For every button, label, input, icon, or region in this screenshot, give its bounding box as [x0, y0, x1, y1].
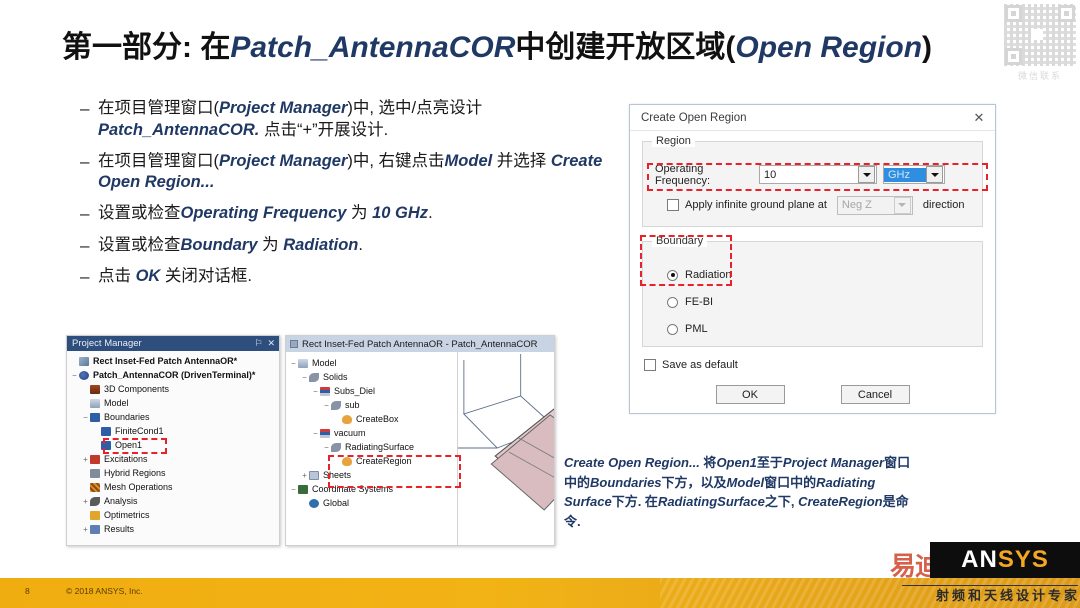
command-icon-wrap [342, 415, 353, 424]
tree-node[interactable]: FiniteCond1 [70, 424, 279, 438]
expand-icon[interactable]: + [300, 471, 309, 480]
bullet-2-seg-0: 设置或检查 [98, 204, 181, 222]
pin-icon[interactable]: ⚐ [254, 338, 262, 349]
coordinate-systems-icon-wrap [298, 485, 309, 494]
caption-seg-4: Project Manager [783, 455, 884, 470]
collapse-icon[interactable]: − [322, 401, 331, 410]
optimetrics-icon [90, 511, 100, 520]
tree-node[interactable]: +Excitations [70, 452, 279, 466]
collapse-icon[interactable]: − [322, 443, 331, 452]
caption-seg-2: Open1 [716, 455, 756, 470]
tree-node[interactable]: −Coordinate Systems [289, 482, 457, 496]
expand-icon[interactable]: + [81, 525, 90, 534]
operating-frequency-label: Operating Frequency: [655, 163, 759, 187]
3d-components-icon-wrap [90, 385, 101, 394]
ok-button[interactable]: OK [716, 385, 785, 404]
analysis-icon-wrap [90, 497, 101, 506]
caption-seg-0: Create Open Region... [564, 455, 703, 470]
tree-node-label: Hybrid Regions [104, 469, 166, 478]
frequency-unit-select[interactable]: GHz [883, 165, 945, 184]
hybrid-regions-icon-wrap [90, 469, 101, 478]
model-3d-viewport[interactable] [458, 352, 554, 546]
solids-icon [331, 401, 341, 410]
tree-node[interactable]: Mesh Operations [70, 480, 279, 494]
boundary-group: Boundary RadiationFE-BIPML [642, 241, 983, 347]
bullet-dash-icon: – [80, 235, 98, 257]
tree-node-label: Coordinate Systems [312, 485, 393, 494]
cancel-button[interactable]: Cancel [841, 385, 910, 404]
tree-node[interactable]: CreateRegion [289, 454, 457, 468]
material-stack-icon-wrap [320, 387, 331, 396]
page-number: 8 [25, 586, 30, 596]
tree-node-label: sub [345, 401, 360, 410]
copyright-text: © 2018 ANSYS, Inc. [66, 586, 143, 596]
dialog-title: Create Open Region [641, 112, 969, 124]
caption-seg-9: 窗口中的 [764, 475, 816, 490]
wechat-qr-watermark: 微信联系 [1004, 4, 1076, 82]
title-middle: 中创建开放区域 [515, 31, 725, 64]
caption-seg-1: 将 [703, 455, 716, 470]
ground-plane-direction-select[interactable]: Neg Z [837, 196, 913, 215]
chevron-down-icon[interactable] [858, 166, 875, 183]
infinite-ground-plane-checkbox[interactable] [667, 199, 679, 211]
title-paren-open: ( [725, 31, 735, 64]
explanatory-caption: Create Open Region... 将Open1至于Project Ma… [564, 453, 914, 531]
tree-node-label: Subs_Diel [334, 387, 375, 396]
qr-code-image [1004, 4, 1076, 66]
tree-node[interactable]: Hybrid Regions [70, 466, 279, 480]
tree-node-label: RadiatingSurface [345, 443, 414, 452]
collapse-icon[interactable]: − [289, 359, 298, 368]
instruction-text: 在项目管理窗口(Project Manager)中, 右键点击Model 并选择… [98, 151, 620, 195]
tree-node-label: Patch_AntennaCOR (DrivenTerminal)* [93, 371, 255, 380]
tree-node-label: Analysis [104, 497, 138, 506]
hybrid-regions-icon [90, 469, 100, 478]
tree-node-label: Sheets [323, 471, 351, 480]
bullet-dash-icon: – [80, 151, 98, 195]
tree-node[interactable]: −sub [289, 398, 457, 412]
bullet-1-seg-4: 并选择 [492, 152, 551, 170]
tree-node-label: CreateBox [356, 415, 399, 424]
instruction-list: –在项目管理窗口(Project Manager)中, 选中/点亮设计 Patc… [80, 98, 620, 297]
instruction-item: –点击 OK 关闭对话框. [80, 266, 620, 288]
caption-seg-7: 下方，以及 [662, 475, 727, 490]
instruction-item: –设置或检查Operating Frequency 为 10 GHz. [80, 203, 620, 225]
boundary-group-legend: Boundary [652, 235, 707, 247]
tree-node-label: Optimetrics [104, 511, 150, 520]
analysis-icon [90, 497, 100, 506]
tree-node[interactable]: Model [70, 396, 279, 410]
qr-caption: 微信联系 [1004, 69, 1076, 82]
boundary-item-icon-wrap [101, 441, 112, 450]
instruction-text: 设置或检查Boundary 为 Radiation. [98, 235, 363, 257]
ansys-logo-text: ANSYS [961, 546, 1049, 574]
model-icon-wrap [298, 359, 309, 368]
collapse-icon[interactable]: − [311, 429, 320, 438]
close-icon[interactable]: ✕ [969, 110, 989, 126]
optimetrics-icon-wrap [90, 511, 101, 520]
window-icon [290, 340, 298, 348]
radio-icon[interactable] [667, 324, 678, 335]
design-icon-wrap [79, 371, 90, 380]
bullet-0-seg-2: )中, 选中/点亮设计 [347, 99, 482, 117]
save-as-default-row[interactable]: Save as default [644, 359, 983, 371]
project-icon [79, 357, 89, 366]
instruction-item: –在项目管理窗口(Project Manager)中, 选中/点亮设计 Patc… [80, 98, 620, 142]
tree-node[interactable]: −RadiatingSurface [289, 440, 457, 454]
qr-eye-top-left [1005, 5, 1022, 22]
bullet-4-seg-2: 关闭对话框. [160, 267, 252, 285]
boundary-option-label: FE-BI [685, 296, 713, 308]
bullet-0-seg-4: 点击“+”开展设计. [259, 121, 388, 139]
title-colon: : [182, 31, 200, 64]
model-window-title: Rect Inset-Fed Patch AntennaOR - Patch_A… [302, 339, 538, 350]
results-icon-wrap [90, 525, 101, 534]
infinite-ground-plane-row: Apply infinite ground plane at Neg Z dir… [667, 196, 972, 214]
tree-node-label: CreateRegion [356, 457, 412, 466]
bullet-0-seg-3: Patch_AntennaCOR. [98, 121, 259, 139]
brand-slogan: 射频和天线设计专家 [900, 585, 1080, 604]
tree-node-label: Boundaries [104, 413, 150, 422]
tree-node[interactable]: −Model [289, 356, 457, 370]
design-icon [79, 371, 89, 380]
bullet-dash-icon: – [80, 203, 98, 225]
caption-seg-8: Model [727, 475, 765, 490]
operating-frequency-input[interactable]: 10 [759, 165, 877, 184]
title-in: 在 [200, 31, 230, 64]
bullet-1-seg-1: Project Manager [219, 152, 347, 170]
boundary-item-icon [101, 441, 111, 450]
collapse-icon[interactable]: − [311, 387, 320, 396]
collapse-icon[interactable]: − [70, 371, 79, 380]
caption-seg-3: 至于 [757, 455, 783, 470]
instruction-item: –设置或检查Boundary 为 Radiation. [80, 235, 620, 257]
command-icon-wrap [342, 457, 353, 466]
collapse-icon[interactable]: − [81, 413, 90, 422]
boundary-options: RadiationFE-BIPML [653, 267, 972, 337]
qr-center-logo [1031, 29, 1043, 40]
excitations-icon-wrap [90, 455, 101, 464]
frequency-unit-value: GHz [884, 168, 926, 182]
boundary-item-icon-wrap [101, 427, 112, 436]
solids-icon [309, 373, 319, 382]
collapse-icon[interactable]: − [300, 373, 309, 382]
title-design-name: Patch_AntennaCOR [230, 31, 515, 64]
bullet-1-seg-0: 在项目管理窗口( [98, 152, 219, 170]
instruction-text: 在项目管理窗口(Project Manager)中, 选中/点亮设计 Patch… [98, 98, 620, 142]
mesh-operations-icon-wrap [90, 483, 101, 492]
tree-node[interactable]: Global [289, 496, 457, 510]
model-window-titlebar: Rect Inset-Fed Patch AntennaOR - Patch_A… [286, 336, 554, 352]
bullet-4-seg-0: 点击 [98, 267, 136, 285]
material-stack-icon-wrap [320, 429, 331, 438]
infinite-ground-plane-label: Apply infinite ground plane at [685, 199, 827, 211]
collapse-icon[interactable]: − [289, 485, 298, 494]
tree-node-label: Model [312, 359, 337, 368]
material-stack-icon [320, 429, 330, 438]
chevron-down-icon[interactable] [926, 166, 943, 183]
tree-node[interactable]: −vacuum [289, 426, 457, 440]
bullet-3-seg-2: 为 [258, 236, 284, 254]
tree-node[interactable]: 3D Components [70, 382, 279, 396]
instruction-text: 点击 OK 关闭对话框. [98, 266, 252, 288]
tree-node-label: Solids [323, 373, 348, 382]
bullet-2-seg-3: 10 GHz [372, 204, 428, 222]
instruction-text: 设置或检查Operating Frequency 为 10 GHz. [98, 203, 433, 225]
tree-node-label: Rect Inset-Fed Patch AntennaOR* [93, 357, 237, 366]
save-as-default-label: Save as default [662, 359, 738, 371]
operating-frequency-value: 10 [760, 169, 858, 181]
boundary-option-fe-bi[interactable]: FE-BI [667, 294, 972, 310]
tree-node-label: vacuum [334, 429, 366, 438]
boundaries-icon [90, 413, 100, 422]
create-open-region-dialog: Create Open Region ✕ Region Operating Fr… [629, 104, 996, 414]
boundary-option-pml[interactable]: PML [667, 321, 972, 337]
bullet-1-seg-2: )中, 右键点击 [347, 152, 444, 170]
save-as-default-checkbox[interactable] [644, 359, 656, 371]
ansys-branding: 易迪拓培训 ANSYS 射频和天线设计专家 [890, 542, 1080, 608]
model-window-content: −Model−Solids−Subs_Diel−subCreateBox−vac… [286, 352, 554, 546]
excitations-icon [90, 455, 100, 464]
radio-icon[interactable] [667, 297, 678, 308]
3d-components-icon [90, 385, 100, 394]
dialog-button-row: OK Cancel [642, 385, 983, 404]
model-icon-wrap [90, 399, 101, 408]
tree-node[interactable]: −Solids [289, 370, 457, 384]
tree-node-label: Global [323, 499, 349, 508]
tree-node[interactable]: +Sheets [289, 468, 457, 482]
mesh-operations-icon [90, 483, 100, 492]
bullet-dash-icon: – [80, 266, 98, 288]
page-title: 第一部分: 在Patch_AntennaCOR中创建开放区域(Open Regi… [62, 22, 992, 66]
tree-node-label: Mesh Operations [104, 483, 173, 492]
bullet-2-seg-4: . [428, 204, 433, 222]
region-group: Region Operating Frequency: 10 GHz Apply… [642, 141, 983, 227]
direction-label: direction [923, 199, 965, 211]
model-icon [90, 399, 100, 408]
caption-seg-14: CreateRegion [798, 494, 883, 509]
results-icon [90, 525, 100, 534]
title-paren-close: ) [922, 31, 932, 64]
bullet-dash-icon: – [80, 98, 98, 142]
bullet-0-seg-1: Project Manager [219, 99, 347, 117]
material-stack-icon [320, 387, 330, 396]
radio-icon[interactable] [667, 270, 678, 281]
solids-icon-wrap [331, 443, 342, 452]
model-window-panel: Rect Inset-Fed Patch AntennaOR - Patch_A… [285, 335, 555, 546]
sheets-icon [309, 471, 319, 480]
boundary-option-label: PML [685, 323, 708, 335]
tree-node[interactable]: Optimetrics [70, 508, 279, 522]
tree-node-label: Excitations [104, 455, 148, 464]
model-icon [298, 359, 308, 368]
bullet-3-seg-4: . [358, 236, 363, 254]
project-manager-titlebar: Project Manager ⚐ ✕ [67, 336, 279, 351]
dialog-body: Region Operating Frequency: 10 GHz Apply… [630, 131, 995, 412]
solids-icon-wrap [309, 373, 320, 382]
qr-eye-top-right [1058, 5, 1075, 22]
tree-node[interactable]: +Results [70, 522, 279, 536]
bullet-3-seg-3: Radiation [283, 236, 358, 254]
project-icon-wrap [79, 357, 90, 366]
project-manager-tree: Rect Inset-Fed Patch AntennaOR*−Patch_An… [67, 351, 279, 536]
bullet-3-seg-0: 设置或检查 [98, 236, 181, 254]
instruction-item: –在项目管理窗口(Project Manager)中, 右键点击Model 并选… [80, 151, 620, 195]
boundaries-icon-wrap [90, 413, 101, 422]
solids-icon [331, 443, 341, 452]
tree-node[interactable]: −Subs_Diel [289, 384, 457, 398]
antenna-geometry-graphic [458, 352, 554, 546]
ground-plane-direction-value: Neg Z [838, 199, 894, 211]
command-icon [342, 457, 352, 466]
coordinate-systems-icon [298, 485, 308, 494]
tree-node[interactable]: −Boundaries [70, 410, 279, 424]
caption-seg-12: RadiatingSurface [658, 494, 765, 509]
command-icon [342, 415, 352, 424]
caption-seg-13: 之下, [765, 494, 798, 509]
bullet-1-seg-3: Model [445, 152, 493, 170]
chevron-down-icon[interactable] [894, 197, 911, 214]
tree-node-label: Results [104, 525, 134, 534]
tree-node[interactable]: Rect Inset-Fed Patch AntennaOR* [70, 354, 279, 368]
expand-icon[interactable]: + [81, 497, 90, 506]
region-group-legend: Region [652, 135, 695, 147]
bullet-2-seg-1: Operating Frequency [181, 204, 347, 222]
close-icon[interactable]: ✕ [267, 338, 275, 349]
bullet-3-seg-1: Boundary [181, 236, 258, 254]
qr-eye-bottom-left [1005, 48, 1022, 65]
tree-node[interactable]: Open1 [70, 438, 279, 452]
boundary-item-icon [101, 427, 111, 436]
bullet-4-seg-1: OK [136, 267, 161, 285]
boundary-option-label: Radiation [685, 269, 731, 281]
bullet-0-seg-0: 在项目管理窗口( [98, 99, 219, 117]
project-manager-title: Project Manager [72, 338, 249, 349]
model-history-tree: −Model−Solids−Subs_Diel−subCreateBox−vac… [286, 352, 458, 546]
solids-icon-wrap [331, 401, 342, 410]
expand-icon[interactable]: + [81, 455, 90, 464]
caption-seg-11: 下方. 在 [612, 494, 658, 509]
boundary-option-radiation[interactable]: Radiation [667, 267, 972, 283]
tree-node[interactable]: CreateBox [289, 412, 457, 426]
global-cs-icon [309, 499, 319, 508]
bullet-2-seg-2: 为 [346, 204, 372, 222]
caption-seg-6: Boundaries [590, 475, 662, 490]
ansys-logo: ANSYS [930, 542, 1080, 578]
title-feature-name: Open Region [735, 31, 922, 64]
global-cs-icon-wrap [309, 499, 320, 508]
tree-node-label: Model [104, 399, 129, 408]
title-part-label: 第一部分 [62, 31, 182, 64]
project-manager-panel: Project Manager ⚐ ✕ Rect Inset-Fed Patch… [66, 335, 280, 546]
operating-frequency-row: Operating Frequency: 10 GHz [655, 164, 972, 185]
tree-node[interactable]: −Patch_AntennaCOR (DrivenTerminal)* [70, 368, 279, 382]
dialog-titlebar: Create Open Region ✕ [630, 105, 995, 131]
tree-node[interactable]: +Analysis [70, 494, 279, 508]
tree-node-label: FiniteCond1 [115, 427, 164, 436]
tree-node-label: 3D Components [104, 385, 169, 394]
sheets-icon-wrap [309, 471, 320, 480]
tree-node-label: Open1 [115, 441, 142, 450]
